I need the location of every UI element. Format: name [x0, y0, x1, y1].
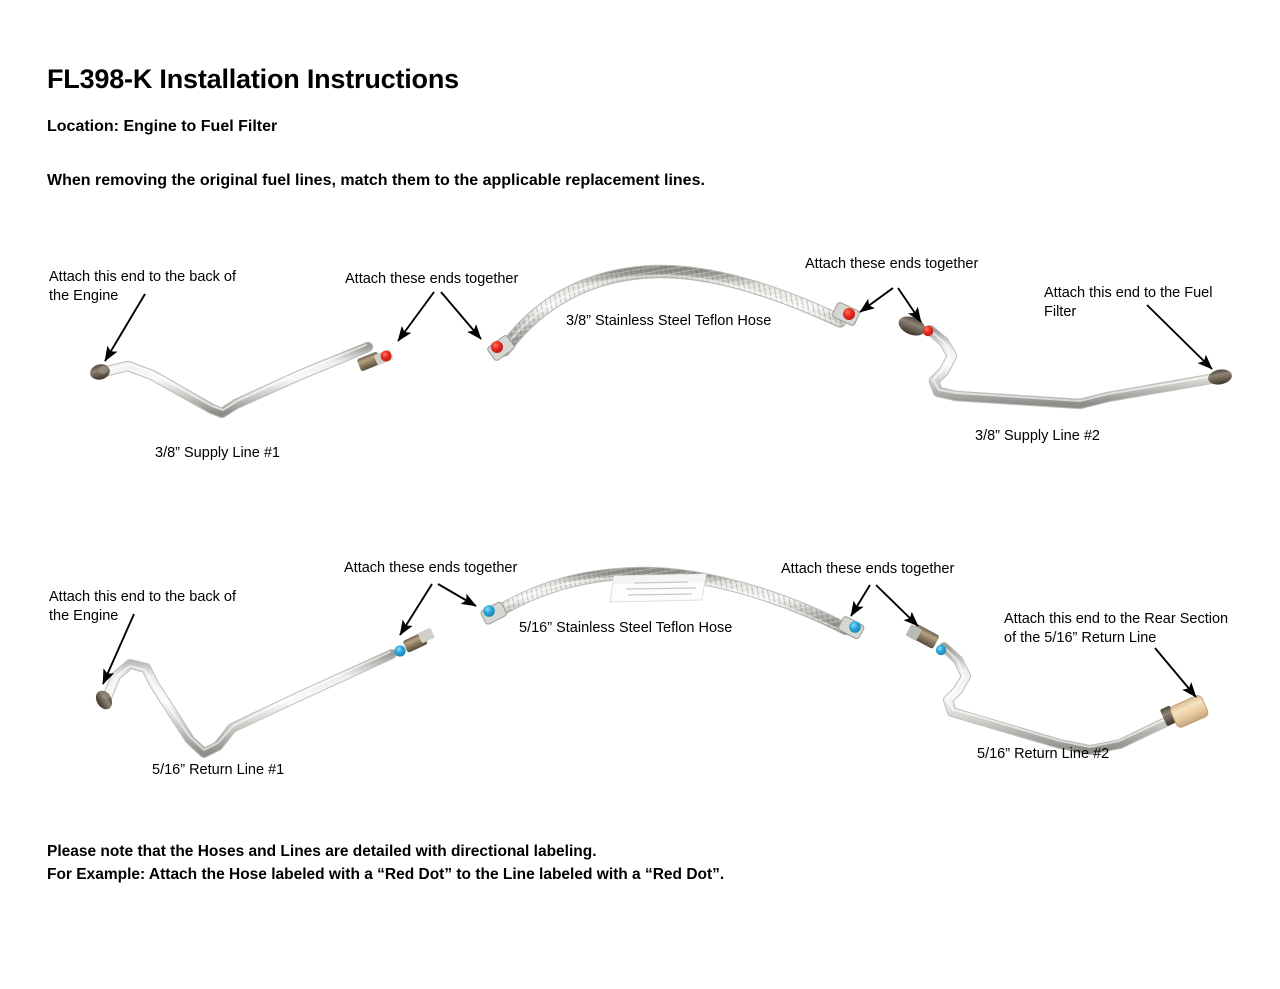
arrow-ends-left-a — [398, 292, 434, 341]
return-line-1-hose-fitting — [394, 628, 434, 657]
fuel-line-artwork — [0, 0, 1280, 989]
red-dot-marker — [491, 341, 503, 353]
return-line-2-rear-fitting — [1160, 694, 1210, 729]
supply-line-2-filter-fitting — [1207, 368, 1233, 387]
red-dot-marker — [923, 326, 933, 336]
blue-dot-marker — [936, 645, 946, 655]
part-label-return-line-2: 5/16” Return Line #2 — [977, 746, 1109, 762]
hose-paper-label — [610, 574, 706, 602]
callout-supply-ends-together-right: Attach these ends together — [805, 255, 978, 274]
footer-note-line-2: For Example: Attach the Hose labeled wit… — [47, 866, 724, 884]
callout-return-ends-together-left: Attach these ends together — [344, 559, 517, 578]
supply-line-1-hose-fitting — [357, 349, 394, 372]
supply-line-2-hose-fitting — [896, 313, 933, 339]
supply-line-1-art — [88, 345, 393, 413]
part-label-supply-hose: 3/8” Stainless Steel Teflon Hose — [566, 313, 771, 329]
arrow-ends-right-b — [898, 288, 921, 322]
callout-return-engine-end: Attach this end to the back of the Engin… — [49, 588, 236, 626]
arrow-rear-section-end — [1155, 648, 1196, 697]
callout-supply-engine-end: Attach this end to the back of the Engin… — [49, 268, 236, 306]
arrow-ends-left-b — [441, 292, 481, 339]
matching-instruction: When removing the original fuel lines, m… — [47, 172, 705, 190]
blue-dot-marker — [483, 605, 495, 617]
callout-supply-fuel-filter-end: Attach this end to the Fuel Filter — [1044, 284, 1212, 322]
supply-hose-left-fitting — [487, 334, 516, 361]
supply-line-2-art — [896, 313, 1233, 404]
footer-note-line-1: Please note that the Hoses and Lines are… — [47, 843, 597, 861]
page-title: FL398-K Installation Instructions — [47, 64, 459, 95]
part-label-supply-line-1: 3/8” Supply Line #1 — [155, 445, 280, 461]
return-line-1-art — [93, 628, 435, 753]
arrow-ends-right-b — [876, 585, 918, 626]
return-hose-right-fitting — [838, 616, 865, 640]
arrow-ends-right-a — [851, 585, 870, 616]
callout-return-ends-together-right: Attach these ends together — [781, 560, 954, 579]
callout-supply-ends-together-left: Attach these ends together — [345, 270, 518, 289]
part-label-supply-line-2: 3/8” Supply Line #2 — [975, 428, 1100, 444]
supply-hose-right-fitting — [832, 302, 861, 327]
instruction-sheet-page: FL398-K Installation Instructions Locati… — [0, 0, 1280, 989]
return-line-1-engine-fitting — [93, 688, 116, 713]
red-dot-marker — [381, 351, 392, 362]
return-line-2-hose-fitting — [905, 624, 946, 655]
blue-dot-marker — [394, 645, 405, 656]
location-subtitle: Location: Engine to Fuel Filter — [47, 118, 277, 136]
arrow-ends-left-b — [438, 584, 476, 606]
blue-dot-marker — [849, 621, 861, 633]
arrow-ends-left-a — [400, 584, 432, 635]
part-label-return-line-1: 5/16” Return Line #1 — [152, 762, 284, 778]
supply-line-1-engine-fitting — [88, 362, 111, 382]
part-label-return-hose: 5/16” Stainless Steel Teflon Hose — [519, 620, 732, 636]
red-dot-marker — [843, 308, 855, 320]
callout-return-rear-section-end: Attach this end to the Rear Section of t… — [1004, 610, 1228, 648]
arrow-ends-right-a — [860, 288, 893, 312]
return-hose-left-fitting — [480, 601, 507, 625]
